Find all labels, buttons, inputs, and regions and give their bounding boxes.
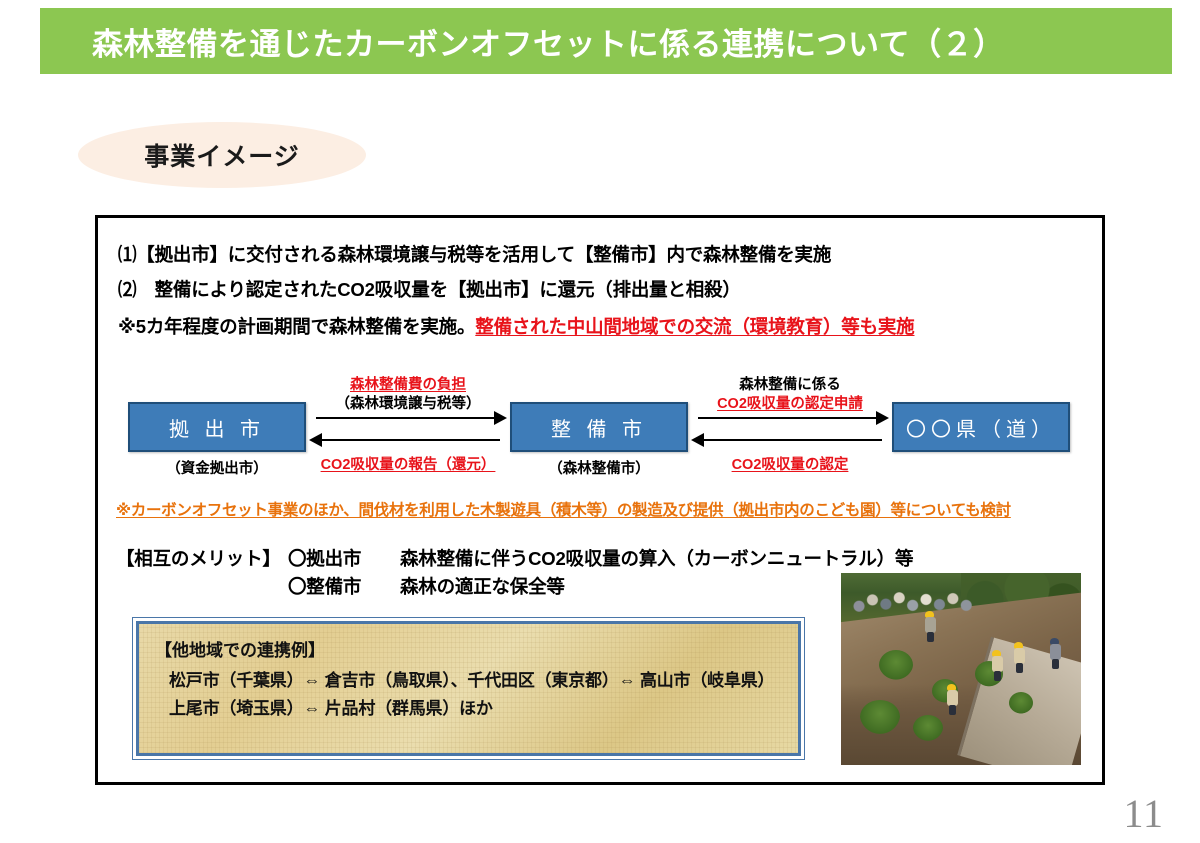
photo-person-body: [1050, 644, 1061, 660]
merit-spacer: [116, 573, 288, 601]
bullet-item-3-plain: ※5カ年程度の計画期間で森林整備を実施。: [118, 316, 475, 337]
photo-shrub: [879, 650, 913, 680]
photo-person-body: [1014, 648, 1025, 664]
arrow-head-left-icon: [691, 433, 704, 447]
arrow-group-right: 森林整備に係る CO2吸収量の認定申請 CO2吸収量の認定: [692, 373, 888, 488]
arrow-head-right-icon: [494, 411, 507, 425]
bullet-item-3-emphasis: 整備された中山間地域での交流（環境教育）等も実施: [475, 316, 914, 337]
photo-person-body: [992, 656, 1003, 672]
arrow-group-left: 森林整備費の負担 （森林環境譲与税等） CO2吸収量の報告（還元）: [310, 373, 506, 488]
merit-row: 【相互のメリット】 〇拠出市 森林整備に伴うCO2吸収量の算入（カーボンニュート…: [116, 545, 913, 573]
page-title: 森林整備を通じたカーボンオフセットに係る連携について（２）: [92, 19, 1005, 64]
merit-text-1: 森林整備に伴うCO2吸収量の算入（カーボンニュートラル）等: [400, 545, 913, 573]
photo-shrub: [1009, 692, 1033, 714]
photo-person-legs: [949, 705, 956, 715]
photo-shrub: [860, 700, 900, 734]
arrow-head-right-icon: [876, 411, 889, 425]
entity-box-prefecture[interactable]: 〇〇県（道）: [892, 402, 1070, 452]
photo-person-body: [925, 617, 936, 633]
title-banner: 森林整備を通じたカーボンオフセットに係る連携について（２）: [40, 8, 1172, 74]
other-regions-examples-box: 【他地域での連携例】 松戸市（千葉県）⇔ 倉吉市（鳥取県）、千代田区（東京都）⇔…: [136, 621, 801, 756]
arrow-label-forest-tax: （森林環境譲与税等）: [310, 392, 506, 413]
photo-person-legs: [994, 671, 1001, 681]
arrow-line-rightward: [698, 417, 882, 419]
merits-heading: 【相互のメリット】: [116, 545, 288, 573]
photo-person-legs: [927, 632, 934, 642]
arrow-line-leftward: [698, 439, 882, 441]
merit-actor-2: 〇整備市: [288, 573, 400, 601]
photo-shrub: [913, 715, 943, 741]
page-number: 11: [1123, 790, 1164, 837]
photo-person-legs: [1016, 663, 1023, 673]
arrow-line-leftward: [316, 439, 500, 441]
bullet-item-3: ※5カ年程度の計画期間で森林整備を実施。整備された中山間地域での交流（環境教育）…: [118, 313, 914, 339]
merit-text-2: 森林の適正な保全等: [400, 573, 565, 601]
examples-title: 【他地域での連携例】: [155, 636, 782, 661]
tree-planting-photo: [841, 573, 1081, 765]
arrow-label-forest-cost-burden: 森林整備費の負担: [310, 373, 506, 394]
photo-person-legs: [1052, 659, 1059, 669]
collaboration-diagram: 拠 出 市 （資金拠出市） 整 備 市 （森林整備市） 〇〇県（道） 森林整備費…: [98, 373, 1102, 488]
bullet-item-2: ⑵ 整備により認定されたCO2吸収量を【拠出市】に還元（排出量と相殺）: [118, 276, 741, 302]
entity-box-contributing-city[interactable]: 拠 出 市: [128, 402, 306, 452]
arrow-label-co2-certification-application: CO2吸収量の認定申請: [692, 392, 888, 413]
entity-sublabel-forest-maintenance-city: （森林整備市）: [510, 457, 688, 478]
content-frame: ⑴【拠出市】に交付される森林環境譲与税等を活用して【整備市】内で森林整備を実施 …: [95, 215, 1105, 785]
arrow-line-rightward: [316, 417, 500, 419]
photo-person-body: [947, 690, 958, 706]
merit-row: 〇整備市 森林の適正な保全等: [116, 573, 913, 601]
example-line-2: 上尾市（埼玉県）⇔ 片品村（群馬県）ほか: [169, 695, 782, 723]
section-pill: 事業イメージ: [78, 122, 366, 188]
merit-actor-1: 〇拠出市: [288, 545, 400, 573]
section-pill-label: 事業イメージ: [144, 137, 300, 173]
arrow-label-co2-certification: CO2吸収量の認定: [692, 453, 888, 474]
mutual-merits-block: 【相互のメリット】 〇拠出市 森林整備に伴うCO2吸収量の算入（カーボンニュート…: [116, 545, 913, 601]
entity-box-forest-maintenance-city[interactable]: 整 備 市: [510, 402, 688, 452]
example-line-1: 松戸市（千葉県）⇔ 倉吉市（鳥取県）、千代田区（東京都）⇔ 高山市（岐阜県）: [169, 667, 782, 695]
bullet-item-1: ⑴【拠出市】に交付される森林環境譲与税等を活用して【整備市】内で森林整備を実施: [118, 241, 831, 267]
orange-supplementary-note: ※カーボンオフセット事業のほか、間伐材を利用した木製遊具（積木等）の製造及び提供…: [116, 498, 1011, 520]
arrow-label-regarding-forest: 森林整備に係る: [692, 373, 888, 394]
arrow-label-co2-report: CO2吸収量の報告（還元）: [310, 453, 506, 474]
entity-sublabel-contributing-city: （資金拠出市）: [128, 457, 306, 478]
photo-crowd: [851, 581, 985, 623]
arrow-head-left-icon: [309, 433, 322, 447]
